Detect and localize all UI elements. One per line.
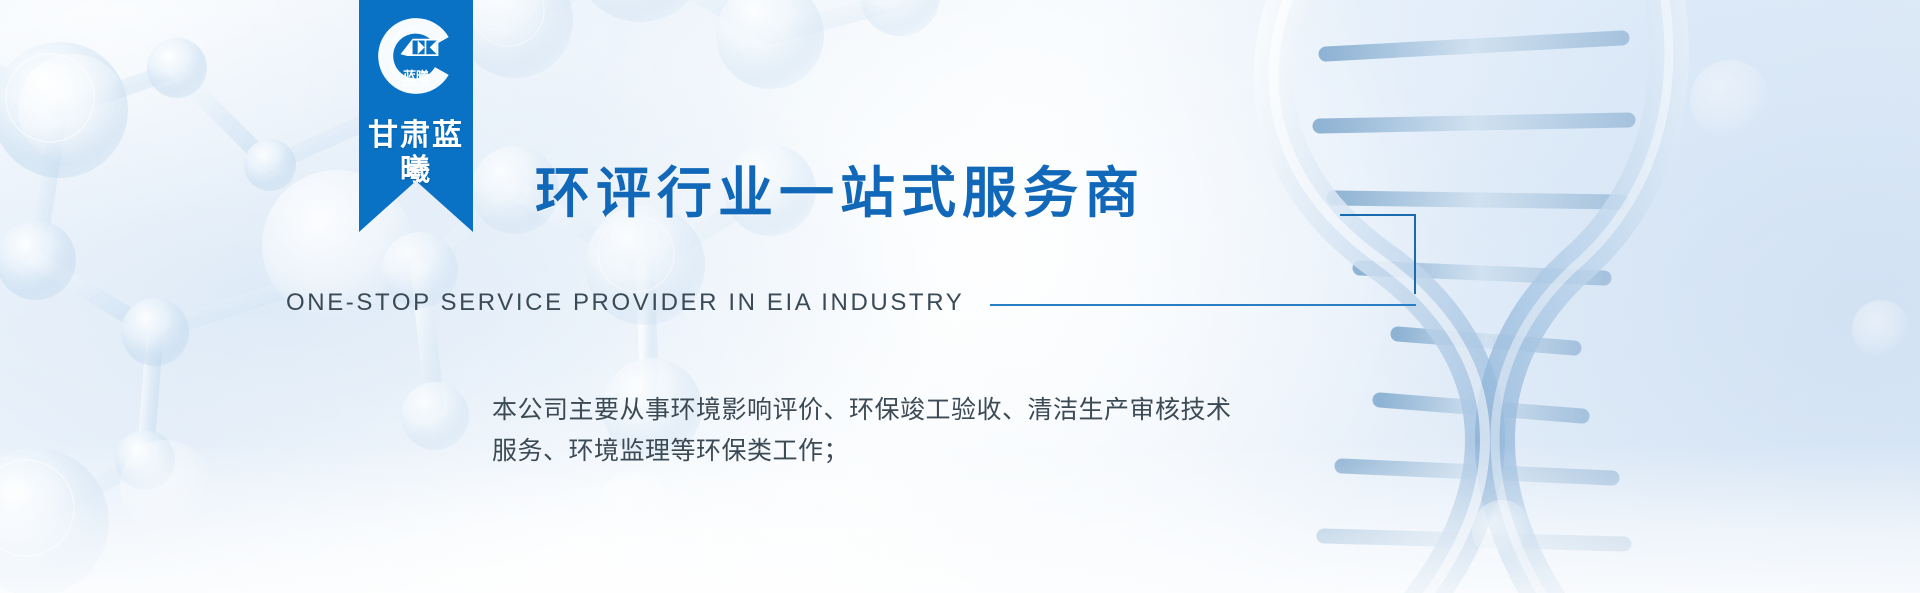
company-logo-icon: 蓝曦 <box>373 13 459 99</box>
bracket-accent <box>1340 214 1416 294</box>
bokeh-dot <box>1690 60 1770 140</box>
subtitle-english: ONE-STOP SERVICE PROVIDER IN EIA INDUSTR… <box>286 289 964 317</box>
bokeh-dot <box>1852 300 1910 358</box>
emblem-label: 蓝曦 <box>403 69 429 84</box>
page-title: 环评行业一站式服务商 <box>535 148 1145 228</box>
hero-banner: 蓝曦 甘肃蓝曦 环评行业一站式服务商 ONE-STOP SERVICE PROV… <box>0 0 1920 593</box>
bokeh-dot <box>120 440 210 530</box>
description-line-1: 本公司主要从事环境影响评价、环保竣工验收、清洁生产审核技术 <box>492 390 1272 431</box>
subtitle-row: ONE-STOP SERVICE PROVIDER IN EIA INDUSTR… <box>286 289 1416 317</box>
subtitle-divider <box>990 304 1416 306</box>
company-badge: 蓝曦 甘肃蓝曦 <box>359 0 473 232</box>
banner-description: 本公司主要从事环境影响评价、环保竣工验收、清洁生产审核技术 服务、环境监理等环保… <box>492 390 1272 471</box>
company-name: 甘肃蓝曦 <box>359 118 473 189</box>
description-line-2: 服务、环境监理等环保类工作； <box>492 431 1272 472</box>
bokeh-dot <box>1472 500 1532 560</box>
bokeh-dot <box>18 54 128 164</box>
bokeh-dot <box>600 470 670 540</box>
